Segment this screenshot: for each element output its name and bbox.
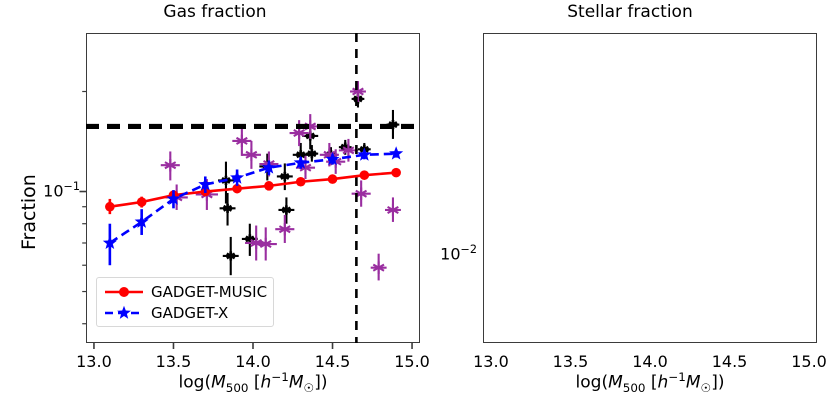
y-axis-label: Fraction (18, 174, 40, 250)
series-line (110, 173, 396, 207)
legend-marker-star-icon (103, 304, 145, 322)
panel-right-xtick-3: 14.5 (709, 352, 751, 371)
legend-item-0[interactable]: GADGET-MUSIC (103, 281, 267, 302)
figure-root: Gas fraction Fraction log(M500 [h−1M☉]) … (0, 0, 830, 415)
panel-right-xtick-4: 15.0 (788, 352, 830, 371)
data-point (360, 170, 370, 180)
data-point (264, 181, 274, 191)
legend-marker-circle-icon (103, 283, 145, 301)
panel-left-xtick-2: 14.0 (232, 352, 274, 371)
legend-label: GADGET-X (151, 304, 228, 322)
panel-right-xtick-1: 13.5 (549, 352, 591, 371)
legend-item-1[interactable]: GADGET-X (103, 302, 267, 323)
panel-left-xtick-0: 13.0 (73, 352, 115, 371)
panel-left-xtick-3: 14.5 (312, 352, 354, 371)
data-point (391, 168, 401, 178)
legend-gas-fraction[interactable]: GADGET-MUSICGADGET-X (96, 277, 274, 327)
data-point (296, 177, 306, 187)
panel-right-ytick-0: 10−2 (435, 243, 477, 263)
panel-left-xtick-1: 13.5 (152, 352, 194, 371)
x-axis-label-stellar: log(M500 [h−1M☉]) (483, 370, 817, 395)
legend-label: GADGET-MUSIC (151, 283, 267, 301)
panel-left-xtick-4: 15.0 (391, 352, 433, 371)
legend-circle-icon (119, 287, 129, 297)
panel-right-xtick-2: 14.0 (629, 352, 671, 371)
legend-star-icon (117, 305, 131, 318)
panel-right-xtick-0: 13.0 (470, 352, 512, 371)
series-gonzalez-et-al-2013 (218, 91, 399, 275)
data-point (105, 202, 115, 212)
data-point (389, 146, 403, 159)
panel-gas-fraction: Gas fraction Fraction log(M500 [h−1M☉]) … (0, 0, 430, 415)
series-zhang-et-al-2011 (161, 81, 401, 280)
data-point (137, 197, 147, 207)
plot-canvas-gas (0, 0, 430, 415)
series-gadget-x (103, 146, 403, 265)
panel-stellar-fraction: Stellar fraction log(M500 [h−1M☉]) 13.01… (430, 0, 830, 415)
x-axis-label-gas: log(M500 [h−1M☉]) (86, 370, 420, 395)
panel-left-ytick-0: 10−1 (38, 180, 80, 200)
data-point (328, 174, 338, 184)
